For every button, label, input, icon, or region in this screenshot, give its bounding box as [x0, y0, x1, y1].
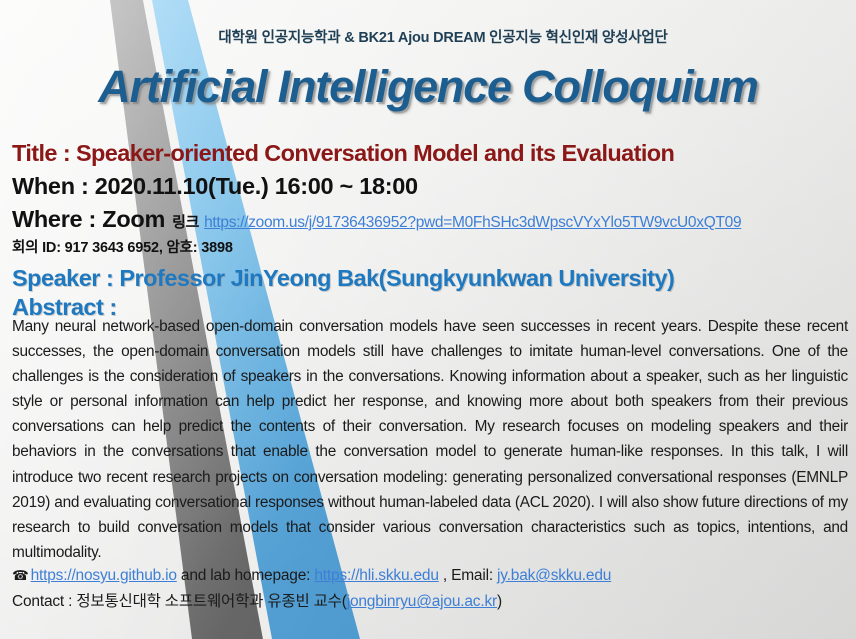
- event-info-block: Title : Speaker-oriented Conversation Mo…: [12, 140, 852, 322]
- page-title: Artificial Intelligence Colloquium: [0, 61, 856, 113]
- email-label: , Email:: [439, 567, 497, 584]
- talk-where-line: Where : Zoom 링크 https://zoom.us/j/917364…: [12, 205, 852, 233]
- department-line: 대학원 인공지능학과 & BK21 Ajou DREAM 인공지능 혁신인재 양…: [0, 26, 856, 47]
- talk-when-line: When : 2020.11.10(Tue.) 16:00 ~ 18:00: [12, 172, 852, 200]
- speaker-line: Speaker : Professor JinYeong Bak(Sungkyu…: [12, 265, 852, 293]
- telephone-icon: ☎: [12, 568, 29, 583]
- colloquium-poster: 대학원 인공지능학과 & BK21 Ajou DREAM 인공지능 혁신인재 양…: [0, 0, 856, 639]
- speaker-email-link[interactable]: jy.bak@skku.edu: [497, 567, 611, 584]
- lab-homepage-link[interactable]: https://hli.skku.edu: [314, 567, 438, 584]
- contact-email-link[interactable]: jongbinryu@ajou.ac.kr: [347, 593, 497, 610]
- contact-suffix-label: ): [497, 593, 502, 610]
- personal-homepage-link[interactable]: https://nosyu.github.io: [31, 567, 177, 584]
- where-link-word: 링크: [172, 214, 199, 232]
- lab-homepage-label: and lab homepage:: [177, 567, 315, 584]
- footer-links-line: ☎https://nosyu.github.io and lab homepag…: [12, 565, 852, 587]
- abstract-body-text: Many neural network-based open-domain co…: [12, 314, 848, 565]
- contact-prefix-label: Contact : 정보통신대학 소프트웨어학과 유종빈 교수(: [12, 593, 347, 610]
- footer-contact-line: Contact : 정보통신대학 소프트웨어학과 유종빈 교수(jongbinr…: [12, 591, 852, 613]
- poster-footer: ☎https://nosyu.github.io and lab homepag…: [12, 565, 852, 614]
- zoom-meeting-link[interactable]: https://zoom.us/j/91736436952?pwd=M0FhSH…: [204, 214, 741, 233]
- talk-title-line: Title : Speaker-oriented Conversation Mo…: [12, 140, 852, 168]
- where-label: Where : Zoom: [12, 205, 165, 233]
- meeting-id-line: 회의 ID: 917 3643 6952, 암호: 3898: [12, 236, 852, 257]
